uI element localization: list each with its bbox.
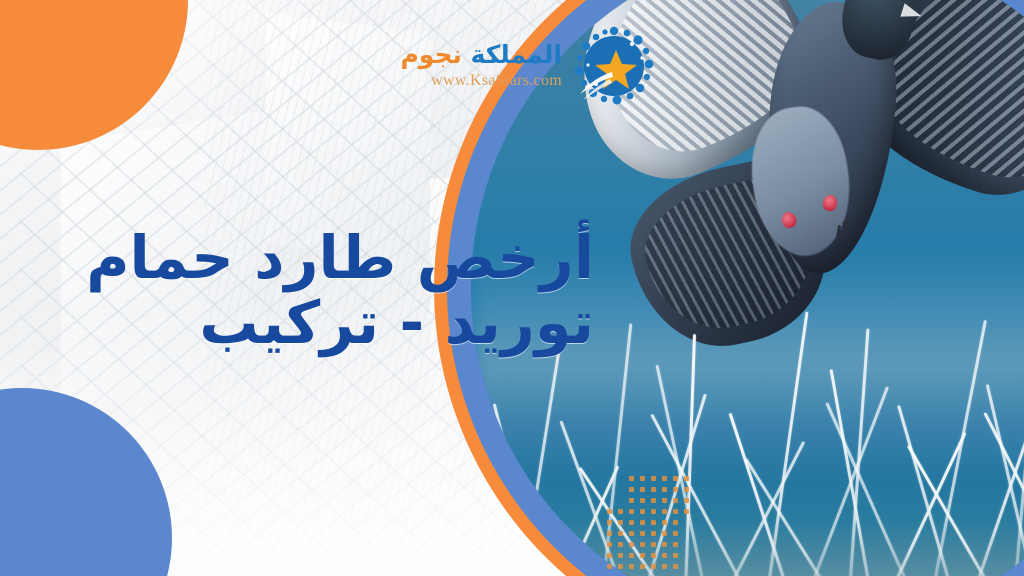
dot xyxy=(684,509,689,514)
dot xyxy=(684,498,689,503)
dot xyxy=(651,553,656,558)
dot xyxy=(640,542,645,547)
star-badge-icon xyxy=(566,18,662,114)
dot xyxy=(673,564,678,569)
dot xyxy=(629,542,634,547)
dot xyxy=(640,509,645,514)
dot xyxy=(673,531,678,536)
dot xyxy=(662,531,667,536)
dot xyxy=(662,553,667,558)
dot xyxy=(673,476,678,481)
dot xyxy=(662,509,667,514)
dot xyxy=(607,531,612,536)
dot xyxy=(618,564,623,569)
dot xyxy=(629,509,634,514)
headline-line-2: توريد - تركيب xyxy=(64,293,594,354)
dot xyxy=(607,564,612,569)
dot xyxy=(651,509,656,514)
dot xyxy=(640,520,645,525)
dot xyxy=(684,487,689,492)
promo-banner: المملكة نجوم www.KsaStars.com أرخص طارد … xyxy=(0,0,1024,576)
dot xyxy=(618,531,623,536)
dot xyxy=(651,476,656,481)
brand-logo[interactable]: المملكة نجوم www.KsaStars.com xyxy=(452,16,662,120)
dot xyxy=(640,553,645,558)
dot xyxy=(618,520,623,525)
dot xyxy=(662,542,667,547)
bird-spike xyxy=(931,320,986,576)
dot xyxy=(629,476,634,481)
dot xyxy=(607,509,612,514)
brand-word-stars: نجوم xyxy=(400,40,461,69)
dot xyxy=(629,531,634,536)
dot xyxy=(629,498,634,503)
dot xyxy=(673,520,678,525)
brand-website-url[interactable]: www.KsaStars.com xyxy=(400,72,562,90)
dot xyxy=(684,476,689,481)
dot xyxy=(618,553,623,558)
dot xyxy=(662,476,667,481)
brand-name-arabic: المملكة نجوم xyxy=(400,42,562,67)
dot xyxy=(629,487,634,492)
dot xyxy=(607,542,612,547)
dot xyxy=(673,487,678,492)
brand-logo-text: المملكة نجوم www.KsaStars.com xyxy=(400,42,562,90)
headline: أرخص طارد حمام توريد - تركيب xyxy=(64,228,594,354)
dot xyxy=(651,564,656,569)
dot xyxy=(640,531,645,536)
dot xyxy=(651,498,656,503)
dot xyxy=(640,476,645,481)
dot xyxy=(673,509,678,514)
dot xyxy=(640,564,645,569)
dot xyxy=(651,542,656,547)
dot xyxy=(607,520,612,525)
dot xyxy=(629,553,634,558)
dot xyxy=(640,487,645,492)
dot xyxy=(629,564,634,569)
dot xyxy=(607,553,612,558)
bird-spike xyxy=(471,445,501,576)
bird-spike xyxy=(897,405,953,576)
dot xyxy=(618,509,623,514)
dot xyxy=(662,487,667,492)
brand-word-kingdom: المملكة xyxy=(471,40,562,69)
headline-line-1: أرخص طارد حمام xyxy=(64,228,594,289)
dot xyxy=(618,542,623,547)
dot xyxy=(662,564,667,569)
dot xyxy=(673,553,678,558)
dot xyxy=(651,520,656,525)
dot xyxy=(629,520,634,525)
dot xyxy=(662,520,667,525)
decorative-dot-grid xyxy=(607,476,693,572)
dot xyxy=(673,542,678,547)
dot xyxy=(651,531,656,536)
bird-spike xyxy=(807,386,888,576)
dot xyxy=(662,498,667,503)
dot xyxy=(640,498,645,503)
dot xyxy=(673,498,678,503)
dot xyxy=(651,487,656,492)
bird-spike xyxy=(725,441,805,576)
